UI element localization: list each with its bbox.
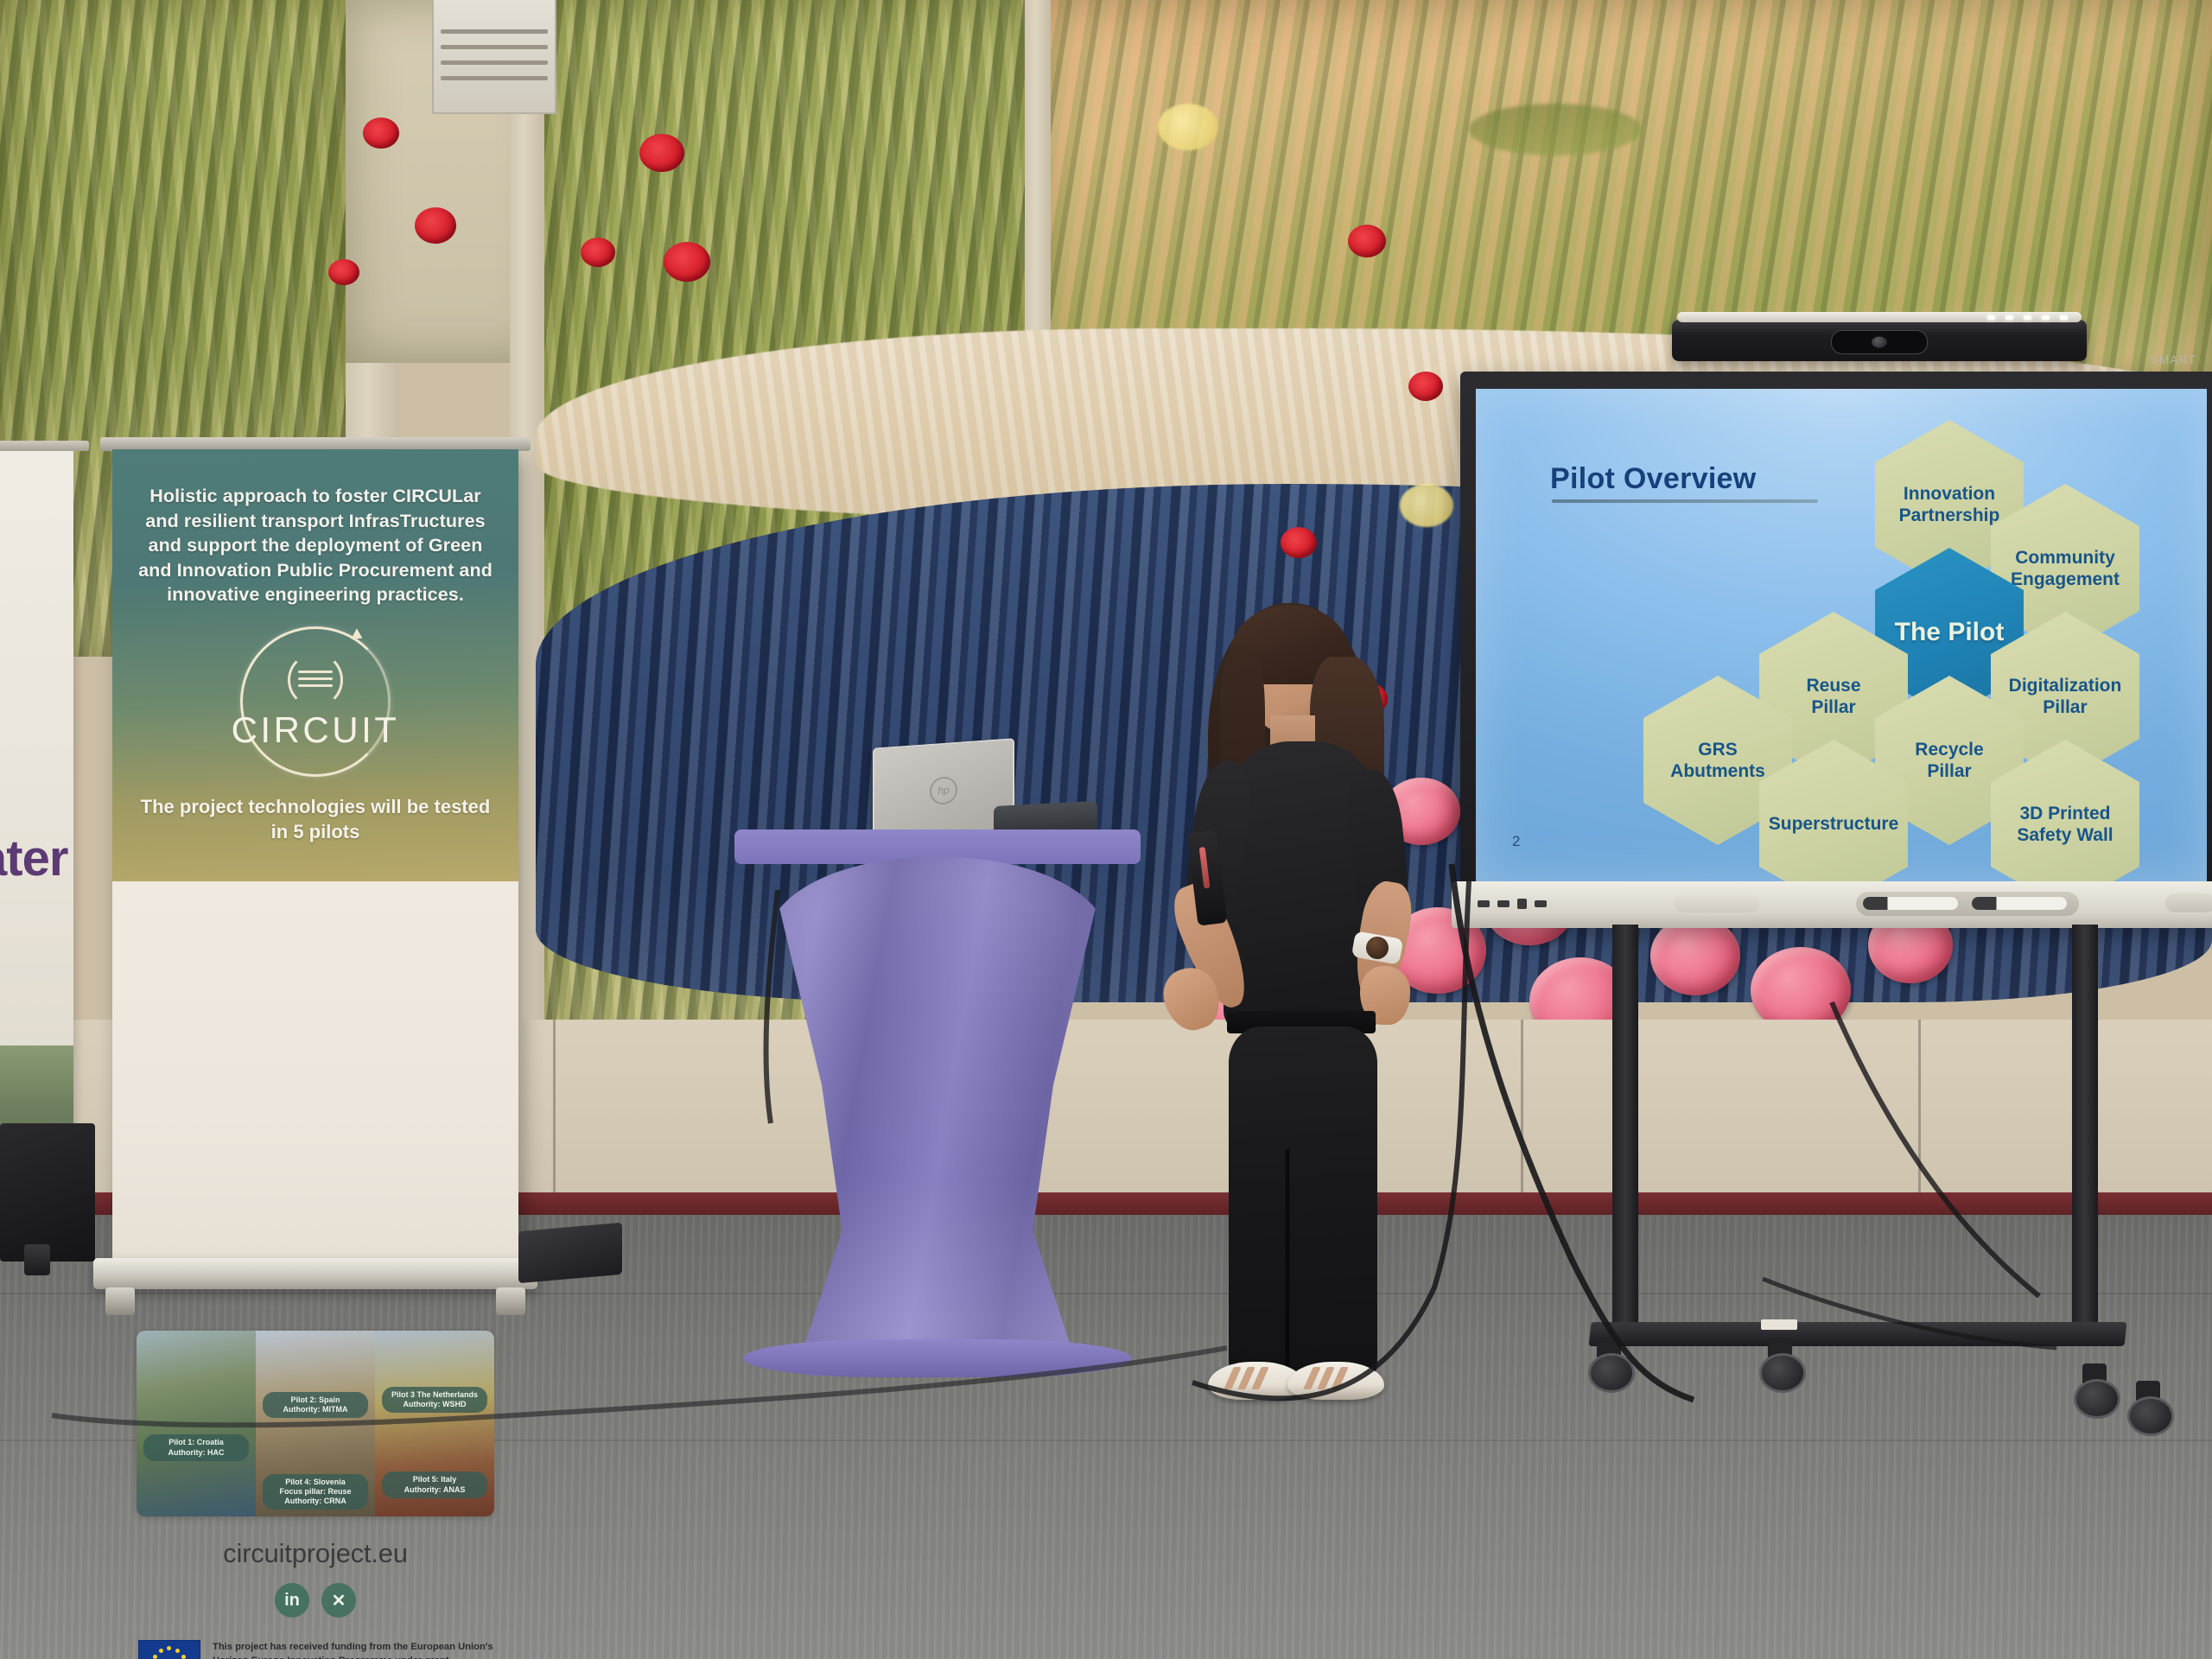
poppy-flower: [664, 242, 710, 282]
hex-label: DigitalizationPillar: [1999, 675, 2133, 718]
presenter: [1141, 596, 1434, 1400]
table-cover: [767, 857, 1108, 1376]
banner-lower-panel: Pilot 1: CroatiaAuthority: HAC Pilot 2: …: [112, 881, 518, 1262]
poppy-flower: [1281, 527, 1317, 558]
eu-flag-icon: [138, 1640, 200, 1659]
hex-label: 3D PrintedSafety Wall: [2006, 803, 2123, 846]
trouser-seam: [1286, 1149, 1290, 1382]
hex-label: Superstructure: [1758, 813, 1910, 835]
caster-wheel: [2127, 1381, 2169, 1431]
hex-label: GRSAbutments: [1660, 739, 1776, 782]
pilot-photo-collage: Pilot 1: CroatiaAuthority: HAC Pilot 2: …: [137, 1331, 494, 1516]
pilot-caption-4: Pilot 4: SloveniaFocus pillar: ReuseAuth…: [263, 1474, 367, 1510]
poppy-flower: [328, 259, 359, 285]
table-cover-hem: [743, 1339, 1132, 1377]
slide-pilot-overview: Pilot Overview 2 InnovationPartnership C…: [1476, 389, 2207, 883]
hex-label: ReusePillar: [1796, 675, 1871, 718]
banner-rail: [0, 441, 89, 451]
stylus-pen-tray[interactable]: [1856, 892, 2079, 916]
display-screen[interactable]: Pilot Overview 2 InnovationPartnership C…: [1476, 389, 2207, 883]
pilot-caption-5: Pilot 5: ItalyAuthority: ANAS: [382, 1471, 486, 1498]
camera-icon: [1831, 330, 1928, 354]
cocktail-table: [734, 829, 1141, 1382]
banner-upper-panel: Holistic approach to foster CIRCULar and…: [112, 449, 518, 881]
eu-funding-text: This project has received funding from t…: [213, 1640, 499, 1659]
poppy-flower: [1348, 225, 1386, 257]
pilot-hexagon-diagram: InnovationPartnership CommunityEngagemen…: [1649, 420, 2207, 869]
floor-monitor-speaker: [518, 1223, 622, 1283]
hex-label: CommunityEngagement: [2000, 547, 2130, 590]
caster-wheel: [2074, 1363, 2115, 1414]
soundbar-status-leds: [1987, 315, 2068, 320]
display-brand-label: SMART: [2150, 353, 2196, 366]
smart-interactive-display[interactable]: SMART Pilot Overview 2 InnovationPartner…: [1460, 372, 2212, 925]
pilot-caption-2: Pilot 2: SpainAuthority: MITMA: [263, 1392, 367, 1419]
ceiling-vent: [432, 0, 556, 114]
presentation-room-photo: ater Holistic approach to foster CIRCULa…: [0, 0, 2212, 1659]
banner-foot-right: [496, 1287, 525, 1315]
slide-page-number: 2: [1512, 833, 1520, 850]
left-partial-banner: ater: [0, 449, 73, 1184]
poppy-flower: [415, 207, 456, 244]
poppy-flower: [363, 118, 399, 149]
display-bottom-bezel: [1452, 881, 2212, 928]
stylus-pen-2[interactable]: [1972, 897, 2067, 910]
stand-base: [1589, 1322, 2127, 1346]
hp-logo-icon: [930, 776, 957, 805]
equipment-foot: [24, 1244, 50, 1275]
pilot-caption-3: Pilot 3 The NetherlandsAuthority: WSHD: [382, 1387, 486, 1414]
caster-wheel: [1759, 1338, 1801, 1388]
pilot-photo-3: Pilot 3 The NetherlandsAuthority: WSHD P…: [375, 1331, 494, 1516]
social-icons: in ✕: [112, 1583, 518, 1618]
video-soundbar: [1672, 320, 2087, 361]
stylus-pen-1[interactable]: [1863, 897, 1958, 910]
floor-equipment-case: [0, 1123, 95, 1262]
stand-label: [1761, 1319, 1797, 1330]
banner-subheading: The project technologies will be tested …: [130, 795, 501, 844]
yellow-bloom: [1400, 484, 1453, 527]
hex-label: InnovationPartnership: [1889, 483, 2011, 526]
poppy-flower: [639, 134, 684, 172]
trousers: [1229, 1027, 1377, 1389]
pilot-photo-1: Pilot 1: CroatiaAuthority: HAC: [137, 1331, 256, 1516]
banner-tagline: Holistic approach to foster CIRCULar and…: [131, 484, 499, 607]
circuit-rollup-banner: Holistic approach to foster CIRCULar and…: [112, 449, 518, 1262]
linkedin-icon: in: [275, 1583, 309, 1618]
shoe-right: [1287, 1362, 1384, 1400]
caster-wheel: [1588, 1338, 1630, 1388]
circuit-wordmark: CIRCUIT: [112, 709, 518, 751]
hex-label: RecyclePillar: [1904, 739, 1993, 782]
yellow-bloom: [1158, 104, 1218, 150]
display-eraser-slot[interactable]: [2165, 893, 2212, 912]
x-twitter-icon: ✕: [321, 1583, 356, 1618]
left-banner-text: ater: [0, 829, 74, 887]
pilot-photo-2: Pilot 2: SpainAuthority: MITMA Pilot 4: …: [256, 1331, 375, 1516]
stand-leg-left: [1612, 925, 1638, 1331]
project-url: circuitproject.eu: [112, 1538, 518, 1569]
green-foliage: [1469, 104, 1642, 156]
banner-bottom-rail: [93, 1258, 537, 1289]
poppy-flower: [581, 238, 615, 267]
circuit-mark-icon: [288, 652, 343, 708]
stand-leg-right: [2072, 925, 2098, 1331]
display-logo-plate: [1675, 895, 1759, 912]
hex-label: The Pilot: [1885, 617, 2015, 648]
pilot-caption-1: Pilot 1: CroatiaAuthority: HAC: [143, 1434, 248, 1461]
banner-foot-left: [105, 1287, 135, 1315]
circuit-logo: CIRCUIT: [112, 626, 518, 782]
poppy-flower: [1408, 372, 1443, 401]
display-port-row[interactable]: [1478, 899, 1547, 909]
eu-funding-block: This project has received funding from t…: [138, 1640, 499, 1659]
